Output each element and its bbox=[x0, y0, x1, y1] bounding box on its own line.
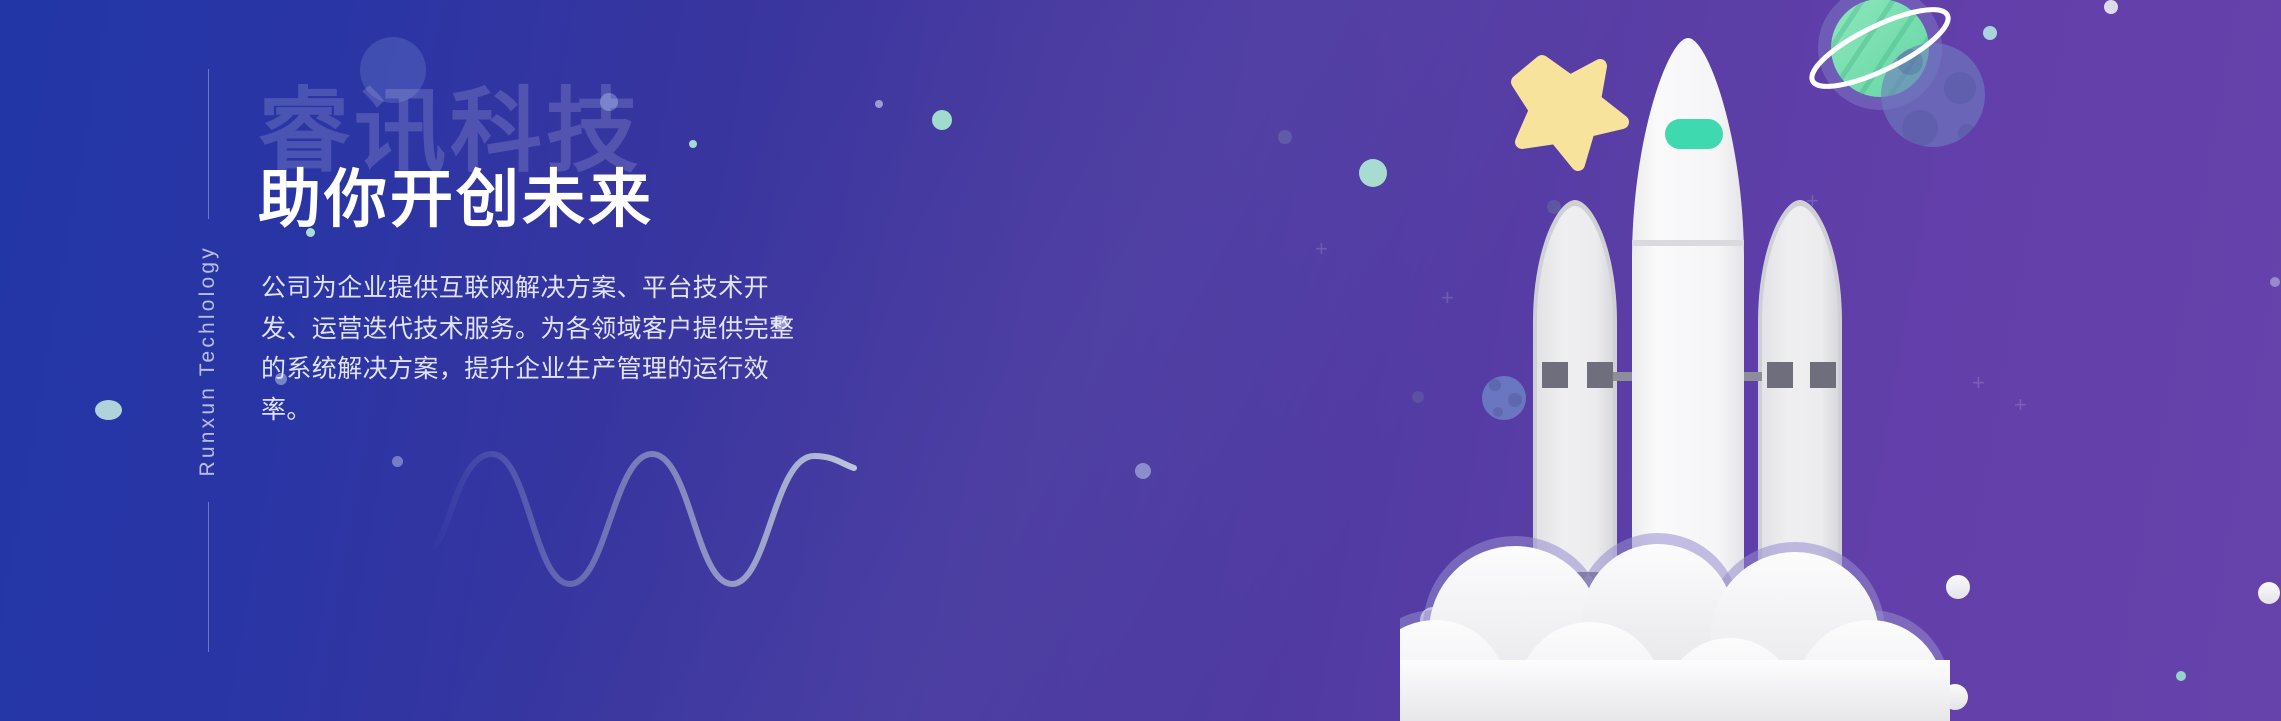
rocket-main-body bbox=[1632, 38, 1744, 592]
decor-circle-mint-d bbox=[1359, 159, 1387, 187]
decor-circle-mint-upper bbox=[875, 100, 883, 108]
decor-plus-a: + bbox=[1315, 238, 1328, 260]
decor-circle-gray-b bbox=[392, 456, 403, 467]
decorative-wave bbox=[430, 430, 860, 610]
side-label-text: Runxun Techlology bbox=[196, 219, 220, 502]
rocket-booster-left bbox=[1533, 200, 1635, 572]
star-icon bbox=[1518, 62, 1622, 164]
rocket-illustration bbox=[1400, 0, 2281, 721]
hero-paragraph: 公司为企业提供互联网解决方案、平台技术开发、运营迭代技术服务。为各领域客户提供完… bbox=[261, 268, 801, 430]
decor-circle-dark-a bbox=[1278, 130, 1292, 144]
decor-circle-mint-c bbox=[932, 110, 952, 130]
hero-banner: + + + + + + Runxun Techlology 睿讯科技 助你开创未… bbox=[0, 0, 2281, 721]
rocket-window-icon bbox=[1665, 119, 1723, 149]
decor-circle-white-b bbox=[1135, 463, 1151, 479]
side-rule-top bbox=[208, 69, 209, 219]
page-title: 助你开创未来 bbox=[258, 166, 654, 235]
launch-clouds bbox=[1400, 533, 1950, 721]
decor-circle-mint-mid bbox=[689, 140, 697, 148]
side-rule-bottom bbox=[208, 502, 209, 652]
rocket-body-seam bbox=[1632, 240, 1744, 246]
rocket-booster-right bbox=[1740, 200, 1842, 572]
decor-circle-mint-left bbox=[95, 400, 122, 420]
vertical-brand-label: Runxun Techlology bbox=[178, 0, 238, 721]
